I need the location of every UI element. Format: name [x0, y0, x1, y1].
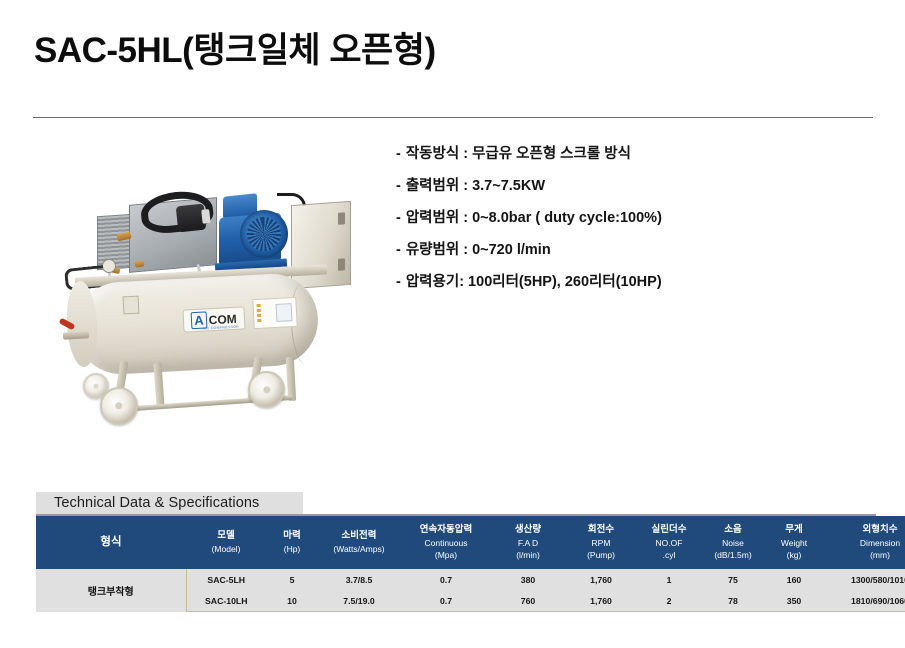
spec-text: 압력용기: 100리터(5HP), 260리터(10HP) — [406, 274, 662, 290]
cell-type: 탱크부착형 — [36, 569, 186, 612]
bullet-dash: - — [396, 210, 401, 226]
specification-list: -작동방식 : 무급유 오픈형 스크롤 방식 -출력범위 : 3.7~7.5KW… — [396, 147, 866, 307]
cell-noise: 75 — [700, 569, 766, 590]
column-header-kr: 소비전력 — [319, 529, 399, 543]
cell-rpm: 1,760 — [564, 569, 638, 590]
cell-fad: 380 — [492, 569, 564, 590]
column-header-en: F.A D — [493, 537, 563, 549]
compressor-illustration: A COM AIR COMPRESSOR — [55, 175, 385, 445]
technical-data-section: Technical Data & Specifications 형식 모델 — [36, 492, 876, 612]
column-header-hp: 마력 (Hp) — [266, 516, 318, 569]
table-row: 탱크부착형 SAC-5LH 5 3.7/8.5 0.7 380 1,760 1 … — [36, 569, 905, 590]
cell-cylinders: 1 — [638, 569, 700, 590]
air-filter — [176, 204, 207, 233]
table-section-tab: Technical Data & Specifications — [36, 492, 303, 514]
control-box — [291, 201, 351, 289]
column-header-en: Noise — [701, 537, 765, 549]
drain-pipe — [63, 331, 89, 339]
cell-power: 3.7/8.5 — [318, 569, 400, 590]
column-header-unit: (dB/1.5m) — [701, 549, 765, 561]
column-header-power: 소비전력 (Watts/Amps) — [318, 516, 400, 569]
cell-continuous-pressure: 0.7 — [400, 590, 492, 612]
bullet-dash: - — [396, 178, 401, 194]
column-header-model: 모델 (Model) — [186, 516, 266, 569]
table-header-row: 형식 모델 (Model) 마력 (Hp) 소비전력 (Watts/Amps) … — [36, 516, 905, 569]
column-header-unit: (Pump) — [565, 549, 637, 561]
column-header-type: 형식 — [36, 516, 186, 569]
cell-weight: 350 — [766, 590, 822, 612]
spec-item: -압력용기: 100리터(5HP), 260리터(10HP) — [396, 275, 866, 290]
wheel-front — [100, 387, 138, 425]
column-header-kr: 생산량 — [493, 523, 563, 537]
wheel-rear — [248, 371, 285, 408]
cell-hp: 10 — [266, 590, 318, 612]
spec-text: 출력범위 : 3.7~7.5KW — [406, 178, 545, 194]
column-header-fad: 생산량 F.A D (l/min) — [492, 516, 564, 569]
cell-cylinders: 2 — [638, 590, 700, 612]
column-header-unit: (mm) — [823, 549, 905, 561]
column-header-en: RPM — [565, 537, 637, 549]
bullet-dash: - — [396, 242, 401, 258]
table-header: 형식 모델 (Model) 마력 (Hp) 소비전력 (Watts/Amps) … — [36, 516, 905, 569]
product-image: A COM AIR COMPRESSOR — [55, 175, 385, 445]
column-header-unit: (Mpa) — [401, 549, 491, 561]
column-header-noise: 소음 Noise (dB/1.5m) — [700, 516, 766, 569]
column-header-kr: 연속자동압력 — [401, 523, 491, 537]
copper-fitting-mid — [135, 260, 145, 267]
title-divider — [33, 117, 873, 118]
column-header-unit: (l/min) — [493, 549, 563, 561]
tank-data-plate — [123, 296, 140, 315]
column-header-en: Dimension — [823, 537, 905, 549]
spec-item: -출력범위 : 3.7~7.5KW — [396, 179, 866, 194]
column-header-kr: 실린더수 — [639, 523, 699, 537]
column-header-en: Weight — [767, 537, 821, 549]
column-header-kr: 소음 — [701, 523, 765, 537]
spec-item: -유량범위 : 0~720 l/min — [396, 243, 866, 258]
column-header-rpm: 회전수 RPM (Pump) — [564, 516, 638, 569]
column-header-kr: 무게 — [767, 523, 821, 537]
spec-text: 압력범위 : 0~8.0bar ( duty cycle:100%) — [406, 210, 662, 226]
column-header-kr: 외형치수 — [823, 523, 905, 537]
spec-text: 유량범위 : 0~720 l/min — [406, 242, 551, 258]
specifications-table: 형식 모델 (Model) 마력 (Hp) 소비전력 (Watts/Amps) … — [36, 516, 905, 612]
column-header-weight: 무게 Weight (kg) — [766, 516, 822, 569]
column-header-continuous-pressure: 연속자동압력 Continuous (Mpa) — [400, 516, 492, 569]
column-header-en: (Hp) — [267, 543, 317, 555]
cell-model: SAC-10LH — [186, 590, 266, 612]
column-header-en: (Watts/Amps) — [319, 543, 399, 555]
bullet-dash: - — [396, 274, 401, 290]
column-header-kr: 형식 — [37, 534, 185, 551]
cell-power: 7.5/19.0 — [318, 590, 400, 612]
cell-hp: 5 — [266, 569, 318, 590]
cell-dimension: 1810/690/1060 — [822, 590, 905, 612]
column-header-en: NO.OF — [639, 537, 699, 549]
cell-dimension: 1300/580/1010 — [822, 569, 905, 590]
column-header-unit: .cyl — [639, 549, 699, 561]
table-section-title: Technical Data & Specifications — [54, 495, 259, 511]
spec-text: 작동방식 : 무급유 오픈형 스크롤 방식 — [406, 146, 631, 162]
warning-sticker — [252, 297, 298, 329]
column-header-unit: (kg) — [767, 549, 821, 561]
column-header-dimension: 외형치수 Dimension (mm) — [822, 516, 905, 569]
cell-fad: 760 — [492, 590, 564, 612]
cell-continuous-pressure: 0.7 — [400, 569, 492, 590]
cell-rpm: 1,760 — [564, 590, 638, 612]
pressure-gauge — [102, 259, 116, 273]
column-header-kr: 회전수 — [565, 523, 637, 537]
column-header-kr: 마력 — [267, 529, 317, 543]
table-body: 탱크부착형 SAC-5LH 5 3.7/8.5 0.7 380 1,760 1 … — [36, 569, 905, 612]
spec-item: -압력범위 : 0~8.0bar ( duty cycle:100%) — [396, 211, 866, 226]
spec-item: -작동방식 : 무급유 오픈형 스크롤 방식 — [396, 147, 866, 162]
brand-logo: A COM AIR COMPRESSOR — [182, 306, 245, 332]
column-header-en: Continuous — [401, 537, 491, 549]
bullet-dash: - — [396, 146, 401, 162]
logo-subtitle: AIR COMPRESSOR — [202, 325, 239, 331]
logo-name: COM — [208, 312, 237, 325]
page-title: SAC-5HL(탱크일체 오픈형) — [34, 22, 436, 73]
cell-noise: 78 — [700, 590, 766, 612]
column-header-kr: 모델 — [187, 529, 265, 543]
column-header-en: (Model) — [187, 543, 265, 555]
cell-model: SAC-5LH — [186, 569, 266, 590]
cell-weight: 160 — [766, 569, 822, 590]
column-header-cylinders: 실린더수 NO.OF .cyl — [638, 516, 700, 569]
